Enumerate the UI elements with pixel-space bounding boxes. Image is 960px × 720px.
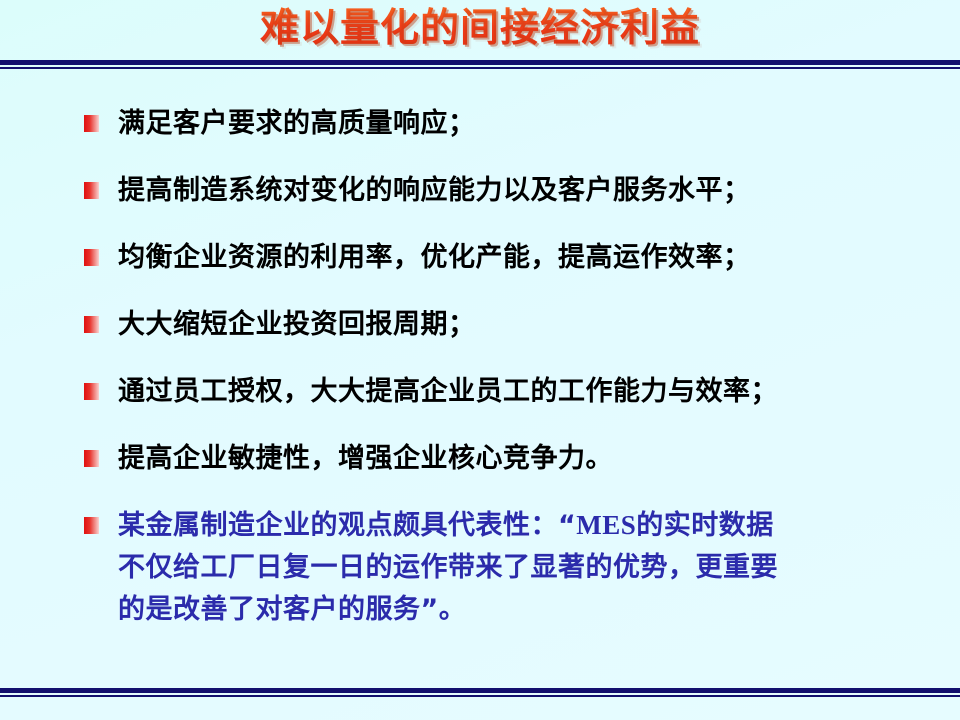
quote-line-3: 的是改善了对客户的服务”。	[118, 589, 778, 631]
list-item: 提高企业敏捷性，增强企业核心竞争力。	[84, 439, 934, 478]
slide-title-area: 难以量化的间接经济利益	[0, 0, 960, 58]
quote-line-1-suffix: 的实时数据	[636, 510, 774, 541]
title-divider-top	[0, 60, 960, 69]
bullet-item-label: 大大缩短企业投资回报周期；	[118, 305, 476, 344]
bullet-item-label: 提高企业敏捷性，增强企业核心竞争力。	[118, 439, 613, 478]
quote-acronym-mes: MES	[576, 510, 636, 540]
footer-divider	[0, 688, 960, 697]
quote-line-1: 某金属制造企业的观点颇具代表性：“MES的实时数据	[118, 504, 778, 547]
square-bullet-icon	[84, 182, 99, 199]
divider-thin-line	[0, 695, 960, 697]
bullet-item-label: 满足客户要求的高质量响应；	[118, 104, 476, 143]
square-bullet-icon	[84, 249, 99, 266]
square-bullet-icon	[84, 450, 99, 467]
square-bullet-icon	[84, 383, 99, 400]
bullet-item-label: 均衡企业资源的利用率，优化产能，提高运作效率；	[118, 238, 751, 277]
bullet-list: 满足客户要求的高质量响应； 提高制造系统对变化的响应能力以及客户服务水平； 均衡…	[84, 104, 934, 659]
list-item: 提高制造系统对变化的响应能力以及客户服务水平；	[84, 171, 934, 210]
slide-canvas: 难以量化的间接经济利益 满足客户要求的高质量响应； 提高制造系统对变化的响应能力…	[0, 0, 960, 720]
bullet-item-label: 通过员工授权，大大提高企业员工的工作能力与效率；	[118, 372, 778, 411]
highlight-quote-item: 某金属制造企业的观点颇具代表性：“MES的实时数据 不仅给工厂日复一日的运作带来…	[84, 504, 934, 631]
divider-thin-line	[0, 67, 960, 69]
square-bullet-icon	[84, 517, 99, 534]
list-item: 均衡企业资源的利用率，优化产能，提高运作效率；	[84, 238, 934, 277]
list-item: 通过员工授权，大大提高企业员工的工作能力与效率；	[84, 372, 934, 411]
square-bullet-icon	[84, 115, 99, 132]
square-bullet-icon	[84, 316, 99, 333]
quote-line-1-prefix: 某金属制造企业的观点颇具代表性：“	[118, 510, 576, 541]
list-item: 满足客户要求的高质量响应；	[84, 104, 934, 143]
page-title: 难以量化的间接经济利益	[260, 7, 700, 51]
bullet-item-label: 提高制造系统对变化的响应能力以及客户服务水平；	[118, 171, 751, 210]
highlight-quote-text: 某金属制造企业的观点颇具代表性：“MES的实时数据 不仅给工厂日复一日的运作带来…	[118, 504, 778, 631]
list-item: 大大缩短企业投资回报周期；	[84, 305, 934, 344]
quote-line-2: 不仅给工厂日复一日的运作带来了显著的优势，更重要	[118, 547, 778, 589]
